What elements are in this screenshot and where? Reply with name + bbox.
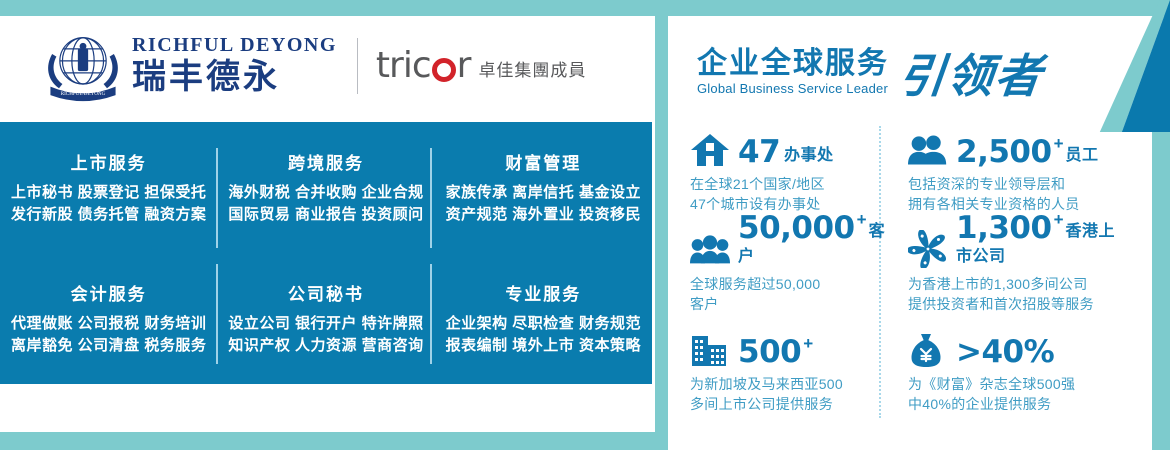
panel-divider: [430, 148, 432, 248]
stat-value-group: 47办事处: [738, 137, 834, 168]
tricor-red-o-icon: [432, 58, 456, 82]
stat-value-group: 500+: [738, 337, 815, 368]
stat-hk-listed: 1,300+香港上市公司 为香港上市的1,300多间公司 提供投资者和首次招股等…: [908, 224, 1120, 324]
service-line: 离岸豁免 公司清盘 税务服务: [11, 335, 206, 358]
corner-blue-wedge: [1040, 0, 1170, 132]
stat-plus: +: [803, 334, 813, 353]
service-line: 企业架构 尽职检查 财务规范: [446, 313, 641, 336]
service-cell-secretary[interactable]: 公司秘书 设立公司 银行开户 特许牌照 知识产权 人力资源 营商咨询: [217, 253, 434, 384]
service-cell-accounting[interactable]: 会计服务 代理做账 公司报税 财务培训 离岸豁免 公司清盘 税务服务: [0, 253, 217, 384]
stat-fortune500: >40% 为《财富》杂志全球500强 中40%的企业提供服务: [908, 324, 1120, 424]
svg-text:RICHFUL DEYONG: RICHFUL DEYONG: [61, 91, 106, 97]
tricor-wordmark-part2: r: [457, 48, 471, 84]
two-people-icon: [908, 130, 948, 168]
stat-number: 47: [738, 134, 780, 170]
stat-description: 包括资深的专业领导层和 拥有各相关专业资格的人员: [908, 174, 1120, 215]
stat-unit: 办事处: [784, 147, 834, 164]
brand-name-cn: 瑞丰德永: [132, 58, 337, 97]
service-line: 设立公司 银行开户 特许牌照: [228, 313, 423, 336]
partner-name-cn: 卓佳集團成員: [478, 56, 586, 81]
service-line: 发行新股 债务托管 融资方案: [11, 204, 206, 227]
teal-vertical-divider: [655, 16, 668, 450]
stat-description: 在全球21个国家/地区 47个城市设有办事处: [690, 174, 880, 215]
service-line: 报表编制 境外上市 资本策略: [446, 335, 641, 358]
money-bag-icon: [908, 330, 948, 368]
stat-description: 为香港上市的1,300多间公司 提供投资者和首次招股等服务: [908, 274, 1120, 315]
stat-desc-line: 多间上市公司提供服务: [690, 394, 880, 414]
house-icon: [690, 130, 730, 168]
teal-top-band: [0, 0, 1170, 16]
headline-main: 企业全球服务 Global Business Service Leader: [697, 48, 889, 96]
service-title: 上市服务: [71, 149, 147, 174]
service-title: 财富管理: [505, 149, 581, 174]
service-line: 知识产权 人力资源 营商咨询: [228, 335, 423, 358]
stat-value-group: 1,300+香港上市公司: [956, 213, 1120, 268]
headline-brush-cn: 引领者: [897, 54, 1046, 100]
stat-unit: 员工: [1066, 147, 1099, 164]
service-title: 跨境服务: [288, 149, 364, 174]
stat-desc-line: 为《财富》杂志全球500强: [908, 374, 1120, 394]
stat-desc-line: 包括资深的专业领导层和: [908, 174, 1120, 194]
panel-divider: [216, 148, 218, 248]
stat-desc-line: 提供投资者和首次招股等服务: [908, 294, 1120, 314]
stat-desc-line: 中40%的企业提供服务: [908, 394, 1120, 414]
stat-head: >40%: [908, 324, 1120, 368]
services-panel: 上市服务 上市秘书 股票登记 担保受托 发行新股 债务托管 融资方案 跨境服务 …: [0, 122, 652, 384]
stat-number: 500: [738, 334, 801, 370]
service-title: 公司秘书: [288, 280, 364, 305]
stat-staff: 2,500+员工 包括资深的专业领导层和 拥有各相关专业资格的人员: [908, 124, 1120, 224]
service-line: 代理做账 公司报税 财务培训: [11, 313, 206, 336]
stat-description: 全球服务超过50,000 客户: [690, 274, 880, 315]
service-line: 上市秘书 股票登记 担保受托: [11, 182, 206, 205]
stat-number: 2,500: [956, 134, 1052, 170]
panel-divider: [216, 264, 218, 364]
corner-decoration: [1040, 0, 1170, 132]
stat-description: 为《财富》杂志全球500强 中40%的企业提供服务: [908, 374, 1120, 415]
service-cell-crossborder[interactable]: 跨境服务 海外财税 合并收购 企业合规 国际贸易 商业报告 投资顾问: [217, 122, 434, 253]
panel-divider: [430, 264, 432, 364]
service-line: 资产规范 海外置业 投资移民: [446, 204, 641, 227]
stat-value-group: 2,500+员工: [956, 137, 1099, 168]
brand-logo-row: RICHFUL DEYONG RICHFUL DEYONG 瑞丰德永 tricr…: [40, 30, 586, 102]
bauhinia-flower-icon: [908, 230, 948, 268]
service-title: 会计服务: [71, 280, 147, 305]
partner-logo-block: tricr 卓佳集團成員: [376, 48, 587, 84]
stat-clients: 50,000+客户 全球服务超过50,000 客户: [690, 224, 880, 324]
service-line: 国际贸易 商业报告 投资顾问: [228, 204, 423, 227]
poster-root: RICHFUL DEYONG RICHFUL DEYONG 瑞丰德永 tricr…: [0, 0, 1170, 450]
headline-cn: 企业全球服务: [697, 48, 889, 80]
stats-grid: 47办事处 在全球21个国家/地区 47个城市设有办事处: [690, 124, 1120, 424]
service-line: 家族传承 离岸信托 基金设立: [446, 182, 641, 205]
stat-description: 为新加坡及马来西亚500 多间上市公司提供服务: [690, 374, 880, 415]
stat-desc-line: 在全球21个国家/地区: [690, 174, 880, 194]
service-cell-wealth[interactable]: 财富管理 家族传承 离岸信托 基金设立 资产规范 海外置业 投资移民: [435, 122, 652, 253]
stat-plus: +: [1054, 210, 1064, 229]
stat-desc-line: 客户: [690, 294, 880, 314]
stat-number: 1,300: [956, 210, 1052, 246]
stat-plus: +: [1054, 134, 1064, 153]
group-people-icon: [690, 230, 730, 268]
stat-value-group: >40%: [956, 337, 1058, 368]
logo-separator: [357, 38, 358, 94]
stat-desc-line: 全球服务超过50,000: [690, 274, 880, 294]
teal-right-band: [1152, 128, 1170, 450]
stat-head: 47办事处: [690, 124, 880, 168]
service-cell-listing[interactable]: 上市服务 上市秘书 股票登记 担保受托 发行新股 债务托管 融资方案: [0, 122, 217, 253]
stat-head: 1,300+香港上市公司: [908, 224, 1120, 268]
stat-number: 50,000: [738, 210, 855, 246]
service-cell-professional[interactable]: 专业服务 企业架构 尽职检查 财务规范 报表编制 境外上市 资本策略: [435, 253, 652, 384]
headline-block: 企业全球服务 Global Business Service Leader 引领…: [697, 48, 1043, 96]
services-grid: 上市服务 上市秘书 股票登记 担保受托 发行新股 债务托管 融资方案 跨境服务 …: [0, 122, 652, 384]
service-line: 海外财税 合并收购 企业合规: [228, 182, 423, 205]
stat-sgmy-listed: 500+ 为新加坡及马来西亚500 多间上市公司提供服务: [690, 324, 880, 424]
stat-desc-line: 为香港上市的1,300多间公司: [908, 274, 1120, 294]
stat-value-group: 50,000+客户: [738, 213, 885, 268]
tricor-wordmark-part1: tric: [376, 48, 431, 84]
stat-desc-line: 为新加坡及马来西亚500: [690, 374, 880, 394]
stat-plus: +: [857, 210, 867, 229]
tricor-wordmark: tricr: [376, 48, 471, 84]
service-title: 专业服务: [505, 280, 581, 305]
stat-head: 2,500+员工: [908, 124, 1120, 168]
headline-en: Global Business Service Leader: [697, 81, 889, 96]
stat-offices: 47办事处 在全球21个国家/地区 47个城市设有办事处: [690, 124, 880, 224]
richful-deyong-crest-icon: RICHFUL DEYONG: [40, 30, 126, 102]
stat-number: >40%: [956, 334, 1054, 370]
stat-head: 50,000+客户: [690, 224, 880, 268]
brand-text-block: RICHFUL DEYONG 瑞丰德永: [132, 34, 337, 97]
brand-name-en: RICHFUL DEYONG: [132, 34, 337, 56]
stat-head: 500+: [690, 324, 880, 368]
building-icon: [690, 330, 730, 368]
teal-bottom-band: [0, 432, 655, 450]
